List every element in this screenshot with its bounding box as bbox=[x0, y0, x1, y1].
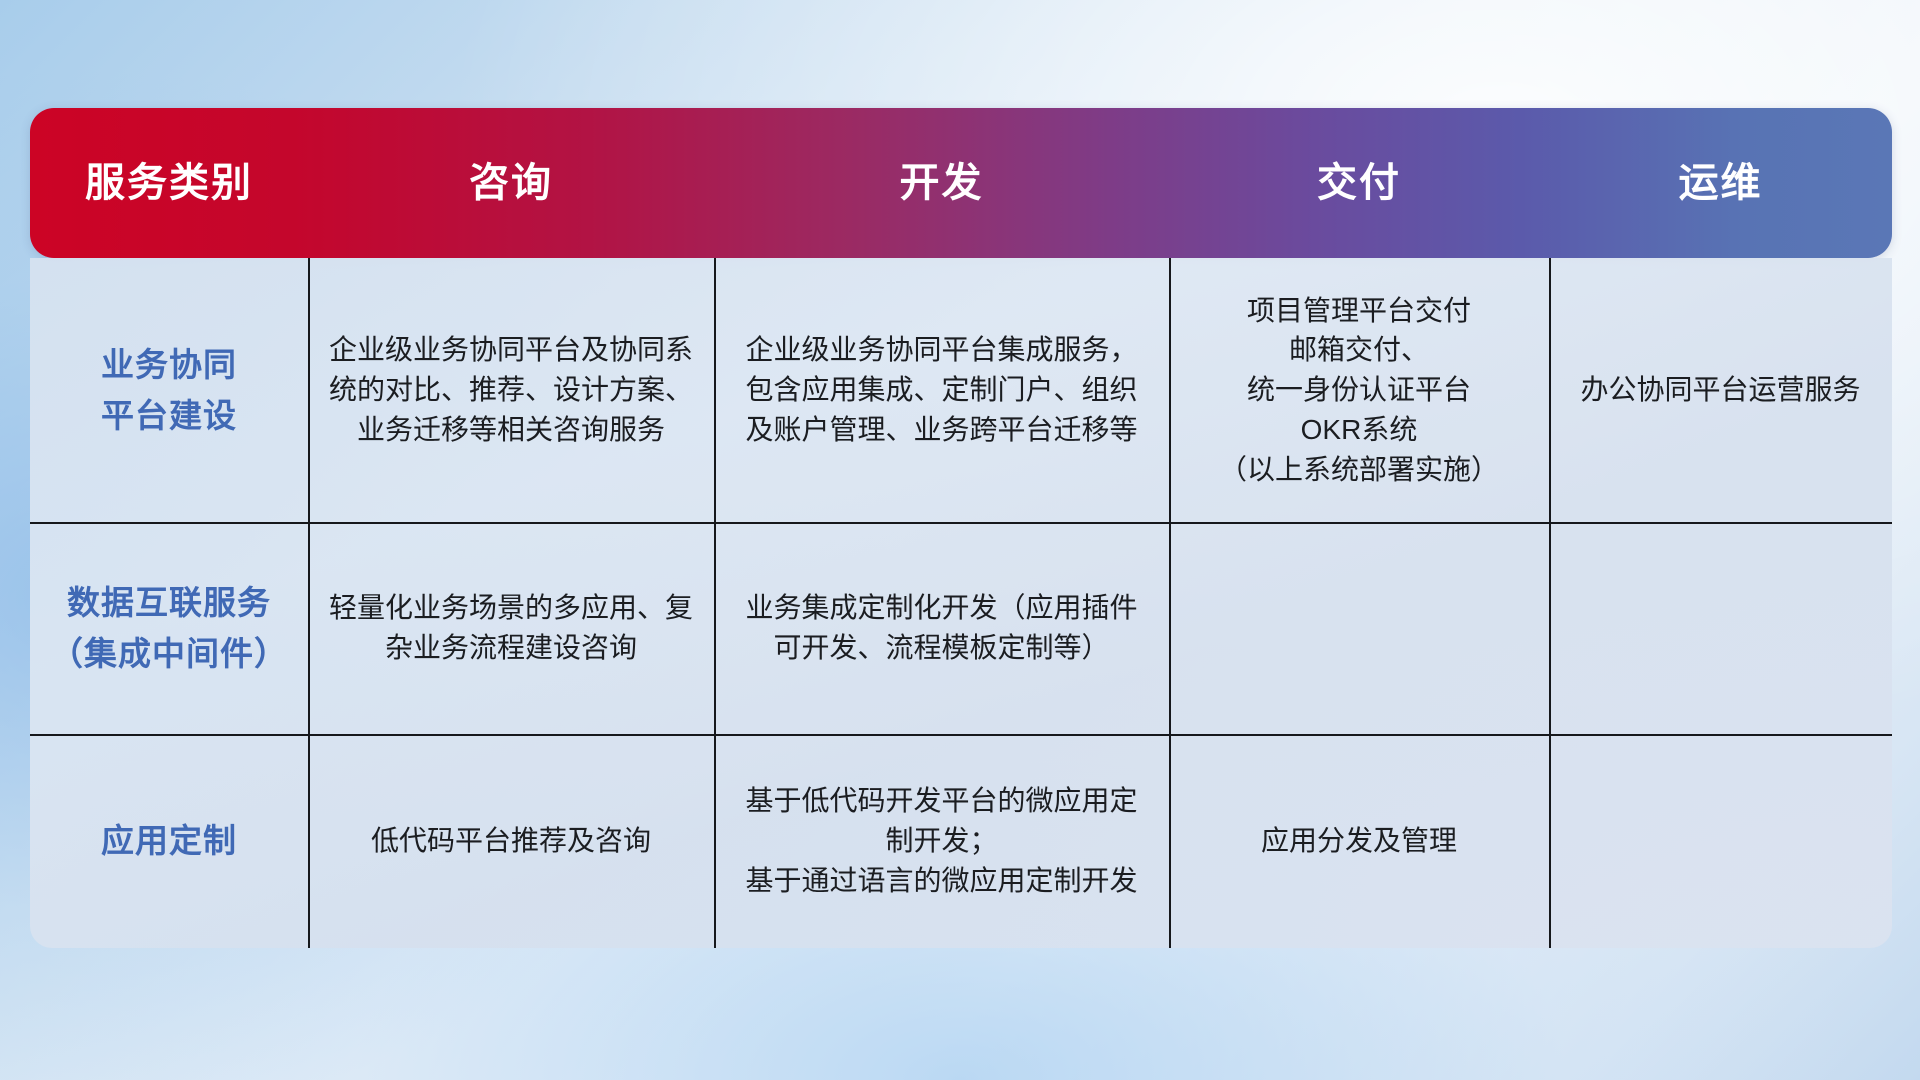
row-label-cell: 数据互联服务 （集成中间件） bbox=[30, 522, 308, 734]
cell-development: 业务集成定制化开发（应用插件 可开发、流程模板定制等） bbox=[714, 522, 1169, 734]
cell-text: 企业级业务协同平台集成服务， 包含应用集成、定制门户、组织 及账户管理、业务跨平… bbox=[745, 330, 1137, 449]
service-matrix-table: 服务类别 咨询 开发 交付 运维 业务协同 平台建设 企业级业务协同平台及协同系… bbox=[30, 108, 1892, 948]
column-header-operations: 运维 bbox=[1549, 163, 1892, 203]
row-label-text: 数据互联服务 （集成中间件） bbox=[50, 577, 288, 679]
cell-operations bbox=[1549, 522, 1892, 734]
table-body: 业务协同 平台建设 企业级业务协同平台及协同系 统的对比、推荐、设计方案、 业务… bbox=[30, 258, 1892, 948]
cell-text: 办公协同平台运营服务 bbox=[1580, 370, 1860, 410]
cell-consulting: 轻量化业务场景的多应用、复 杂业务流程建设咨询 bbox=[308, 522, 714, 734]
row-label-text: 应用定制 bbox=[101, 815, 237, 866]
table-header-row: 服务类别 咨询 开发 交付 运维 bbox=[30, 108, 1892, 258]
column-header-delivery: 交付 bbox=[1169, 163, 1549, 203]
row-label-cell: 业务协同 平台建设 bbox=[30, 258, 308, 522]
cell-delivery: 项目管理平台交付 邮箱交付、 统一身份认证平台 OKR系统 （以上系统部署实施） bbox=[1169, 258, 1549, 522]
cell-delivery bbox=[1169, 522, 1549, 734]
cell-text: 应用分发及管理 bbox=[1261, 821, 1457, 861]
table-row: 业务协同 平台建设 企业级业务协同平台及协同系 统的对比、推荐、设计方案、 业务… bbox=[30, 258, 1892, 522]
row-label-text: 业务协同 平台建设 bbox=[101, 339, 237, 441]
cell-text: 企业级业务协同平台及协同系 统的对比、推荐、设计方案、 业务迁移等相关咨询服务 bbox=[329, 330, 693, 449]
cell-text: 业务集成定制化开发（应用插件 可开发、流程模板定制等） bbox=[745, 588, 1137, 668]
cell-text: 项目管理平台交付 邮箱交付、 统一身份认证平台 OKR系统 （以上系统部署实施） bbox=[1219, 291, 1499, 490]
cell-consulting: 企业级业务协同平台及协同系 统的对比、推荐、设计方案、 业务迁移等相关咨询服务 bbox=[308, 258, 714, 522]
column-header-category: 服务类别 bbox=[30, 163, 308, 203]
slide-canvas: 服务类别 咨询 开发 交付 运维 业务协同 平台建设 企业级业务协同平台及协同系… bbox=[0, 0, 1920, 1080]
cell-text: 轻量化业务场景的多应用、复 杂业务流程建设咨询 bbox=[329, 588, 693, 668]
cell-delivery: 应用分发及管理 bbox=[1169, 734, 1549, 948]
cell-text: 基于低代码开发平台的微应用定 制开发； 基于通过语言的微应用定制开发 bbox=[745, 781, 1137, 900]
row-label-cell: 应用定制 bbox=[30, 734, 308, 948]
cell-development: 基于低代码开发平台的微应用定 制开发； 基于通过语言的微应用定制开发 bbox=[714, 734, 1169, 948]
column-header-development: 开发 bbox=[714, 163, 1169, 203]
cell-operations: 办公协同平台运营服务 bbox=[1549, 258, 1892, 522]
cell-operations bbox=[1549, 734, 1892, 948]
table-row: 数据互联服务 （集成中间件） 轻量化业务场景的多应用、复 杂业务流程建设咨询 业… bbox=[30, 522, 1892, 734]
table-row: 应用定制 低代码平台推荐及咨询 基于低代码开发平台的微应用定 制开发； 基于通过… bbox=[30, 734, 1892, 948]
cell-consulting: 低代码平台推荐及咨询 bbox=[308, 734, 714, 948]
cell-development: 企业级业务协同平台集成服务， 包含应用集成、定制门户、组织 及账户管理、业务跨平… bbox=[714, 258, 1169, 522]
column-header-consulting: 咨询 bbox=[308, 163, 714, 203]
cell-text: 低代码平台推荐及咨询 bbox=[371, 821, 651, 861]
